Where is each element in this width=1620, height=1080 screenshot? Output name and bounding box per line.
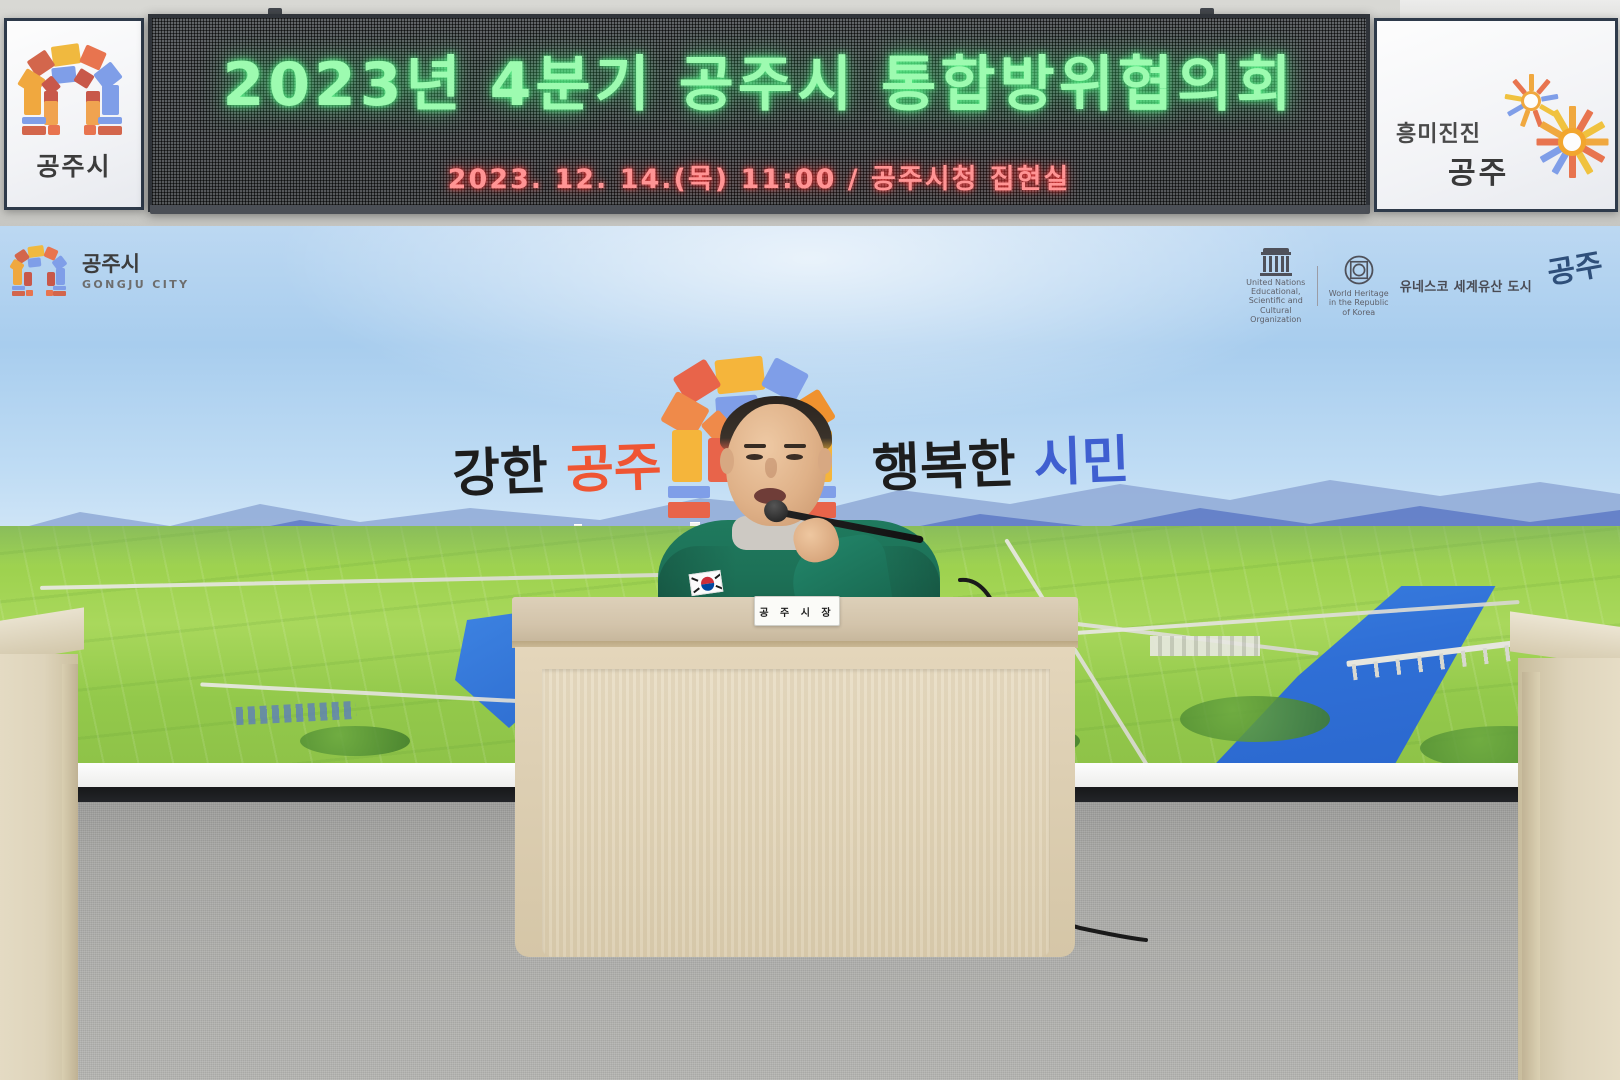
led-display-board: 2023년 4분기 공주시 통합방위협의회 2023. 12. 14.(목) 1…: [148, 14, 1370, 212]
slogan-left-part2: 공주: [565, 437, 663, 500]
ear-left: [720, 448, 734, 474]
right-panel-tagline: 흥미진진: [1396, 116, 1481, 148]
unesco-korean-text: 유네스코 세계유산 도시: [1400, 276, 1532, 295]
lectern-right-edge: [1522, 672, 1540, 1080]
speaker-desk: 공 주 시 장: [512, 597, 1078, 957]
gongju-arch-logo-small: [12, 246, 70, 298]
unesco-world-heritage-logo: United Nations Educational, Scientific a…: [1243, 248, 1532, 324]
unesco-temple-icon: [1259, 248, 1293, 278]
unesco-caption-line4: World Heritage: [1326, 289, 1392, 298]
slogan-right-part2: 시민: [1033, 431, 1131, 494]
gongju-city-logo-panel: 공주시: [4, 18, 144, 210]
korean-flag-patch: [689, 570, 724, 596]
mural-gongju-logo: 공주시 GONGJU CITY: [12, 246, 190, 298]
unesco-caption-line1: United Nations: [1243, 278, 1309, 287]
conference-room-photo: 공주시 2023년 4분기 공주시 통합방위협의회 2023. 12. 14.(…: [0, 0, 1620, 1080]
ear-right: [818, 448, 832, 474]
led-screen: 2023년 4분기 공주시 통합방위협의회 2023. 12. 14.(목) 1…: [152, 18, 1366, 208]
lectern-right: [1510, 628, 1620, 1080]
desk-nameplate: 공 주 시 장: [754, 596, 840, 626]
lectern-left-edge: [62, 664, 78, 1080]
slogan-left-part1: 강한: [451, 441, 567, 505]
tree-cluster: [300, 726, 410, 756]
unesco-caption-line6: of Korea: [1326, 308, 1392, 317]
gongju-arch-logo: [22, 45, 126, 141]
mural-brand-kr: 공주시: [82, 254, 190, 275]
nose: [765, 458, 777, 478]
unesco-caption-line5: in the Republic: [1326, 298, 1392, 307]
seated-official: ㅇ ㅇ ㅇ: [668, 396, 928, 626]
unesco-caption-line2: Educational, Scientific and: [1243, 287, 1309, 305]
mural-brand-en: GONGJU CITY: [82, 278, 190, 291]
lectern-left: [0, 622, 84, 1080]
led-bottom-bar: [150, 205, 1370, 214]
unesco-caption-line3: Cultural Organization: [1243, 306, 1309, 324]
slogan-left: 강한 공주: [451, 424, 663, 506]
tree-cluster: [1180, 696, 1330, 742]
led-subline: 2023. 12. 14.(목) 11:00 / 공주시청 집현실: [448, 157, 1071, 196]
industrial-buildings: [1150, 636, 1260, 656]
world-heritage-emblem: [1344, 255, 1374, 285]
large-sunburst-icon: [1536, 106, 1608, 178]
left-panel-label: 공주시: [36, 147, 111, 183]
led-headline: 2023년 4분기 공주시 통합방위협의회: [222, 36, 1295, 123]
desk-front-panel: [542, 669, 1050, 957]
heungmijinjin-logo-panel: 흥미진진 공주: [1374, 18, 1618, 212]
right-panel-label: 공주: [1448, 148, 1509, 192]
gongju-calligraphy-seal: 공주: [1543, 240, 1605, 293]
